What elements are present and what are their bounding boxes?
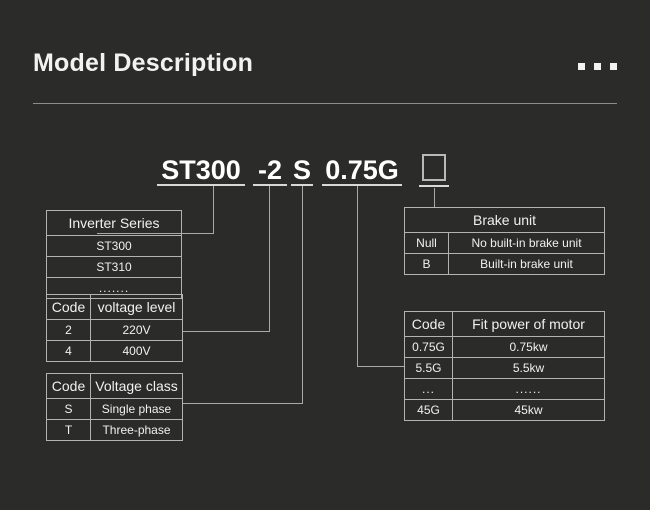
code-underline-brake-unit (419, 185, 449, 187)
table-row: Null No built-in brake unit (405, 233, 605, 254)
leader-line-voltage-class (182, 403, 303, 404)
table-row: 4 400V (47, 341, 183, 362)
brake-unit-code: B (405, 254, 449, 275)
fit-power-value: 45kw (453, 400, 605, 421)
code-segment-power: 0.75G (322, 155, 402, 186)
fit-power-code: ... (405, 379, 453, 400)
leader-line-voltage-class (302, 186, 303, 404)
table-row: ST310 (47, 257, 182, 278)
fit-power-header-power: Fit power of motor (453, 312, 605, 337)
fit-power-code: 5.5G (405, 358, 453, 379)
voltage-class-code: S (47, 399, 91, 420)
fit-power-value: 0.75kw (453, 337, 605, 358)
table-row: 45G 45kw (405, 400, 605, 421)
inverter-series-cell: ST310 (47, 257, 182, 278)
leader-line-power (357, 366, 405, 367)
table-row: B Built-in brake unit (405, 254, 605, 275)
table-row: S Single phase (47, 399, 183, 420)
code-underline-series (157, 184, 245, 186)
voltage-class-value: Single phase (91, 399, 183, 420)
code-segment-series: ST300 (155, 155, 247, 186)
voltage-class-table: Code Voltage class S Single phase T Thre… (46, 373, 183, 441)
voltage-class-header-code: Code (47, 374, 91, 399)
fit-power-code: 0.75G (405, 337, 453, 358)
leader-line-brake-unit (434, 188, 435, 208)
leader-line-voltage-level (182, 331, 270, 332)
voltage-level-header-code: Code (47, 295, 91, 320)
voltage-level-header-level: voltage level (91, 295, 183, 320)
fit-power-code: 45G (405, 400, 453, 421)
code-segment-voltage-class: S (290, 155, 314, 186)
fit-power-table: Code Fit power of motor 0.75G 0.75kw 5.5… (404, 311, 605, 421)
table-row: ST300 (47, 236, 182, 257)
voltage-level-value: 220V (91, 320, 183, 341)
voltage-level-code: 4 (47, 341, 91, 362)
inverter-series-table: Inverter Series ST300 ST310 ....... (46, 210, 182, 299)
inverter-series-cell: ST300 (47, 236, 182, 257)
table-row: ... ...... (405, 379, 605, 400)
voltage-class-header-class: Voltage class (91, 374, 183, 399)
voltage-class-value: Three-phase (91, 420, 183, 441)
voltage-class-code: T (47, 420, 91, 441)
brake-unit-value: Built-in brake unit (449, 254, 605, 275)
code-segment-brake-unit-box (422, 154, 446, 181)
table-row: 5.5G 5.5kw (405, 358, 605, 379)
voltage-level-value: 400V (91, 341, 183, 362)
table-row: 0.75G 0.75kw (405, 337, 605, 358)
brake-unit-table: Brake unit Null No built-in brake unit B… (404, 207, 605, 275)
brake-unit-value: No built-in brake unit (449, 233, 605, 254)
code-segment-voltage-level: -2 (254, 155, 286, 186)
table-row: 2 220V (47, 320, 183, 341)
code-underline-voltage-level (253, 184, 287, 186)
fit-power-header-code: Code (405, 312, 453, 337)
leader-line-voltage-level (269, 186, 270, 332)
brake-unit-code: Null (405, 233, 449, 254)
inverter-series-header: Inverter Series (47, 211, 182, 236)
table-row: T Three-phase (47, 420, 183, 441)
leader-line-power (357, 186, 358, 367)
leader-line-series (213, 186, 214, 234)
brake-unit-header: Brake unit (405, 208, 605, 233)
fit-power-value: ...... (453, 379, 605, 400)
fit-power-value: 5.5kw (453, 358, 605, 379)
code-underline-power (322, 184, 402, 186)
voltage-level-table: Code voltage level 2 220V 4 400V (46, 294, 183, 362)
voltage-level-code: 2 (47, 320, 91, 341)
